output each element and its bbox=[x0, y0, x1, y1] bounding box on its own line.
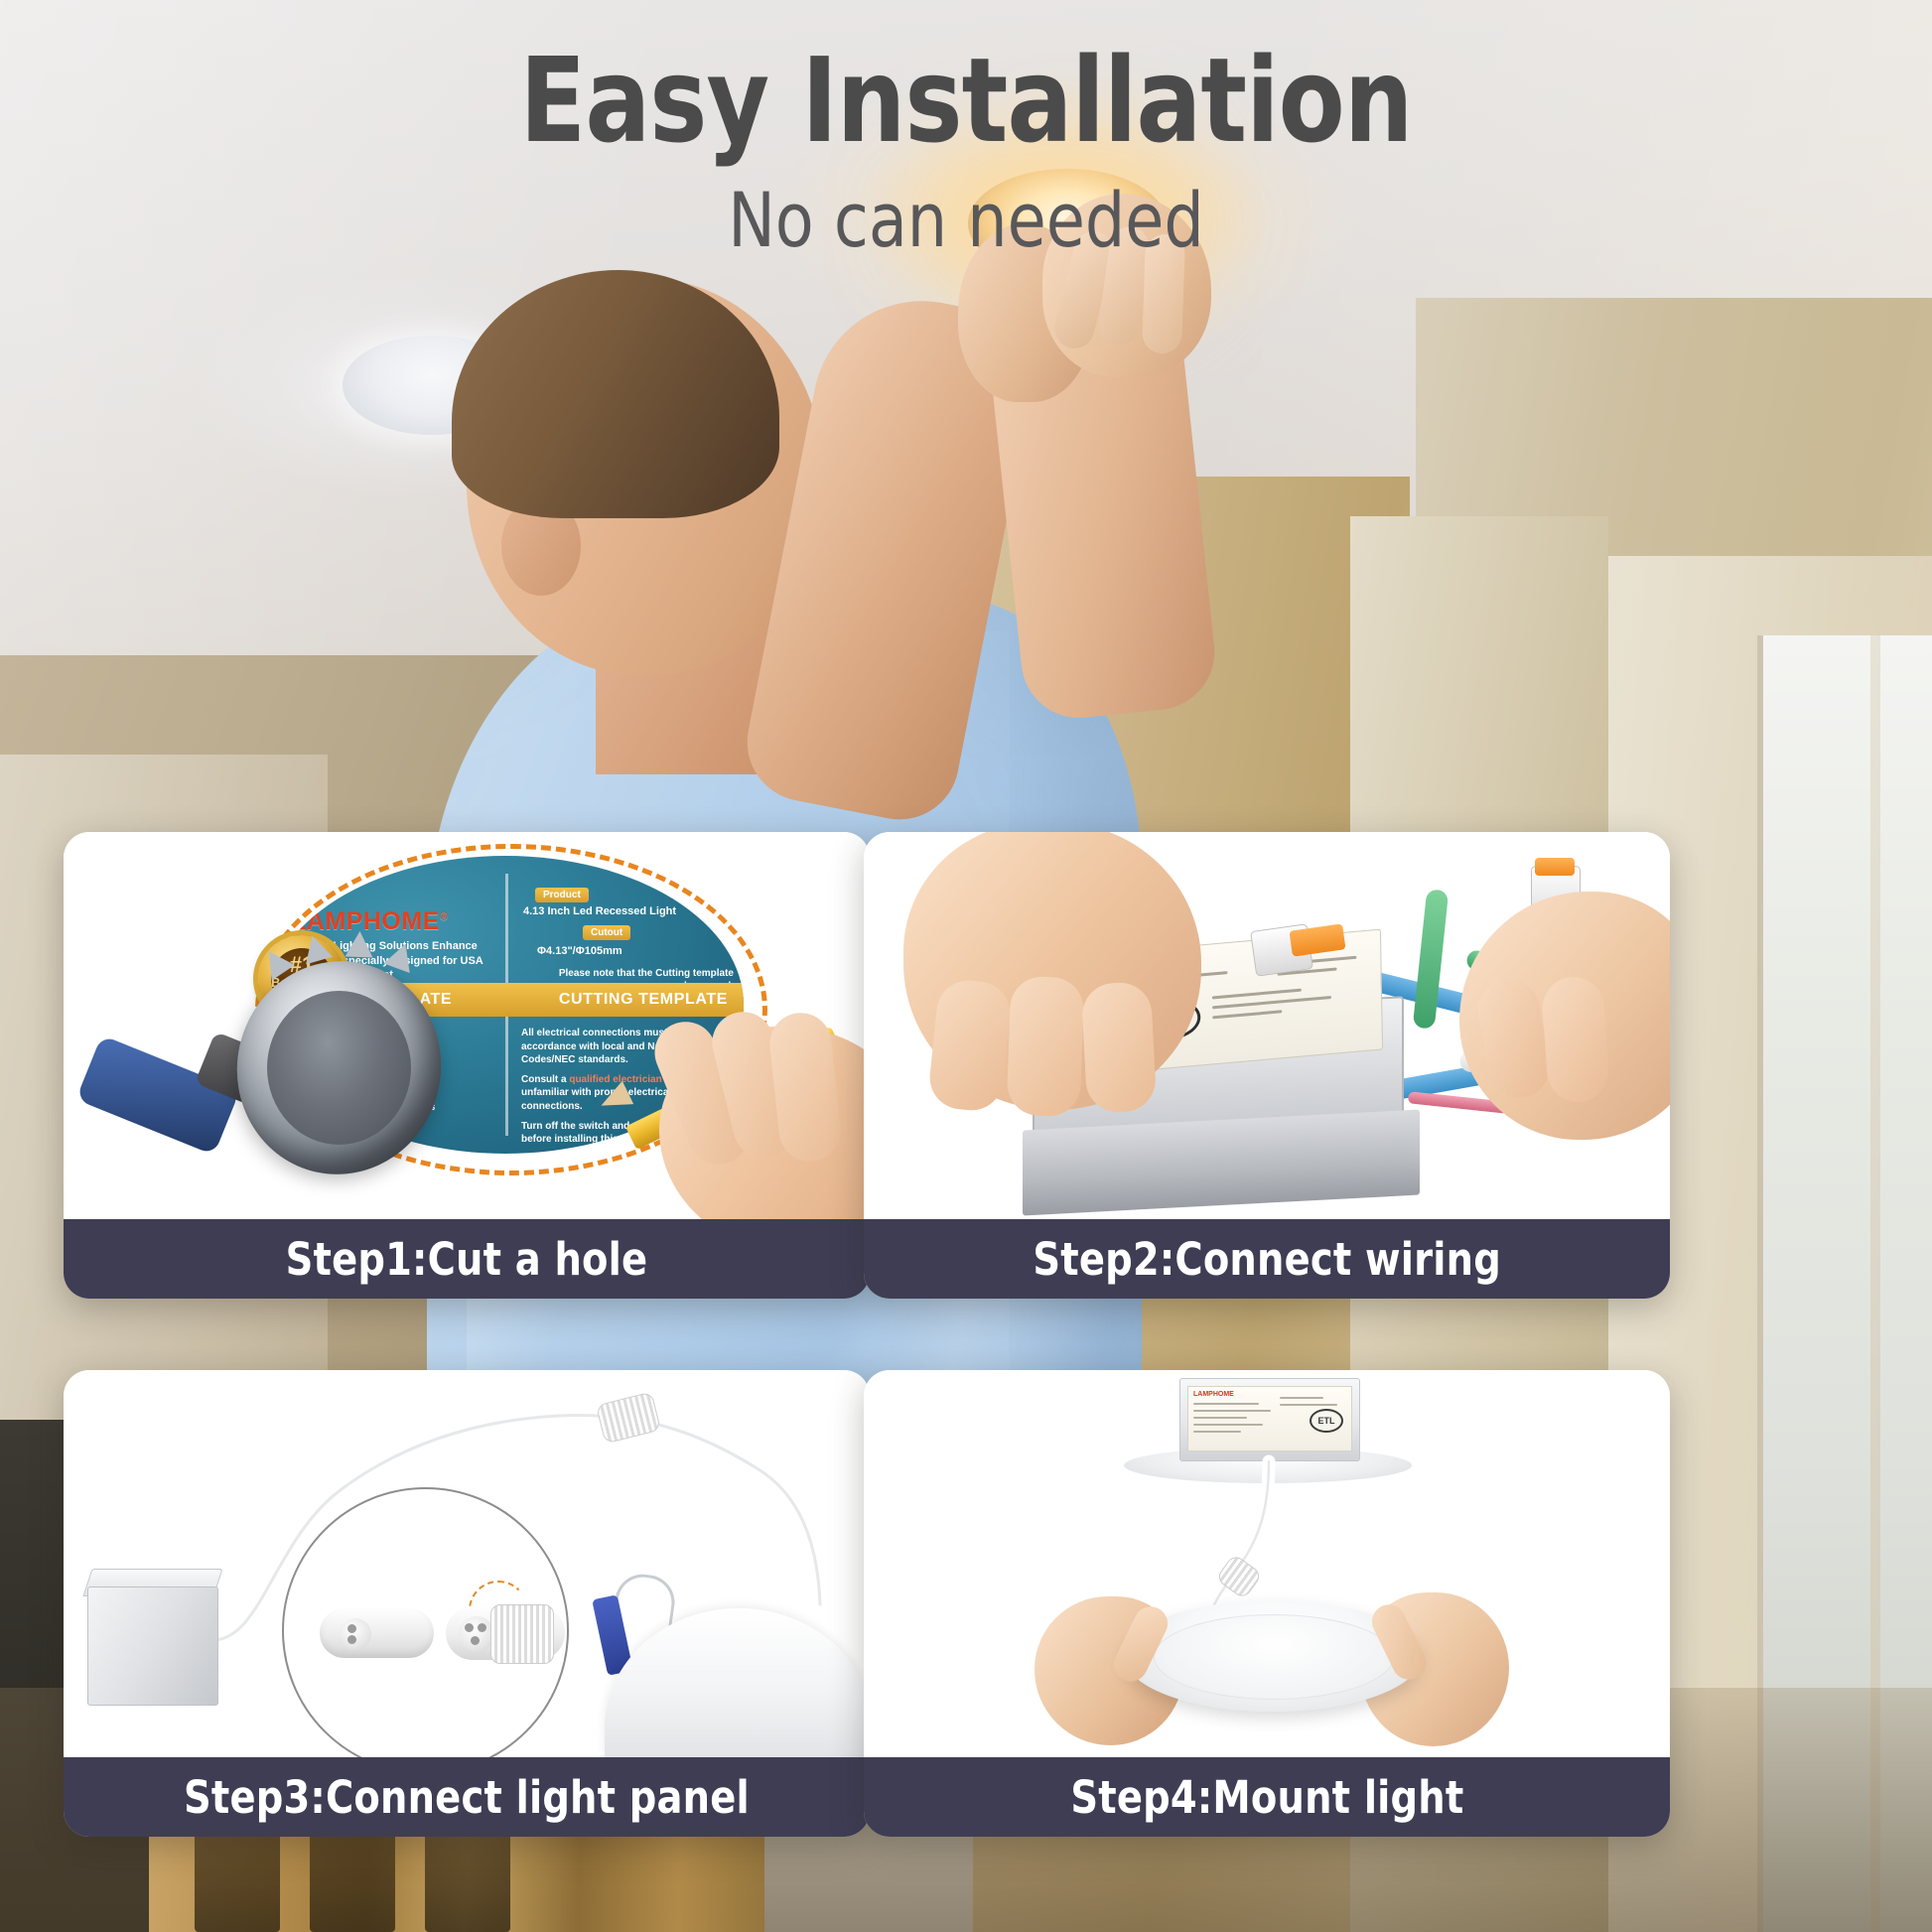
connector-pin bbox=[347, 1635, 356, 1644]
page-title: Easy Installation bbox=[77, 38, 1855, 164]
template-product-value: 4.13 Inch Led Recessed Light bbox=[523, 905, 722, 917]
step-4-illustration: LAMPHOME ETL bbox=[864, 1370, 1670, 1757]
label-text-line bbox=[1212, 1010, 1282, 1019]
warning-line-2-pre: Consult a bbox=[521, 1074, 569, 1085]
step-3-illustration bbox=[64, 1370, 870, 1757]
saw-tooth bbox=[345, 931, 374, 958]
led-light-lens bbox=[1154, 1614, 1394, 1700]
connector-knurled-ring bbox=[490, 1604, 554, 1664]
step-3-caption-text: Step3:Connect light panel bbox=[184, 1771, 750, 1824]
label-text-line bbox=[1212, 989, 1302, 1000]
connector-socket bbox=[465, 1623, 474, 1632]
step-2-caption: Step2:Connect wiring bbox=[864, 1219, 1670, 1299]
step-card-3[interactable]: Step3:Connect light panel bbox=[64, 1370, 870, 1837]
step-2-illustration: ETL bbox=[864, 832, 1670, 1219]
hole-saw-bore bbox=[267, 991, 411, 1145]
connector-socket bbox=[471, 1636, 480, 1645]
step-1-caption: Step1:Cut a hole bbox=[64, 1219, 870, 1299]
step-3-caption: Step3:Connect light panel bbox=[64, 1757, 870, 1837]
step-4-caption-text: Step4:Mount light bbox=[1070, 1771, 1463, 1824]
connector-male-face bbox=[340, 1618, 371, 1650]
template-product-header: Product bbox=[535, 888, 589, 902]
registered-mark-icon: ® bbox=[440, 911, 449, 923]
template-banner-right: CUTTING TEMPLATE bbox=[559, 991, 728, 1009]
step-card-1[interactable]: LAMPHOME® Perfect Lighting Solutions Enh… bbox=[64, 832, 870, 1299]
label-text-line bbox=[1212, 996, 1331, 1009]
product-infographic: Easy Installation No can needed LAMPHOME… bbox=[0, 0, 1932, 1932]
step-1-illustration: LAMPHOME® Perfect Lighting Solutions Enh… bbox=[64, 832, 870, 1219]
wiring-hand-finger bbox=[1007, 976, 1085, 1117]
step-card-2[interactable]: ETL Step2:Connect wiring bbox=[864, 832, 1670, 1299]
junction-box bbox=[87, 1587, 218, 1706]
step-4-caption: Step4:Mount light bbox=[864, 1757, 1670, 1837]
wiring-hand-finger bbox=[1081, 981, 1158, 1113]
template-cutout-value: Φ4.13"/Φ105mm bbox=[537, 945, 716, 957]
step-1-caption-text: Step1:Cut a hole bbox=[286, 1233, 648, 1286]
connector-male bbox=[320, 1608, 434, 1658]
wiring-hand-finger bbox=[1541, 975, 1611, 1104]
template-cutout-header: Cutout bbox=[583, 925, 630, 940]
connector-female-face bbox=[459, 1616, 494, 1652]
page-subtitle: No can needed bbox=[68, 179, 1864, 262]
step-2-caption-text: Step2:Connect wiring bbox=[1033, 1233, 1501, 1286]
template-warning-badge: Warning bbox=[666, 866, 730, 882]
step-card-4[interactable]: LAMPHOME ETL Step4:Moun bbox=[864, 1370, 1670, 1837]
connector-orange-lever bbox=[1535, 858, 1575, 876]
connector-pin bbox=[347, 1624, 356, 1633]
connector-socket bbox=[478, 1623, 486, 1632]
